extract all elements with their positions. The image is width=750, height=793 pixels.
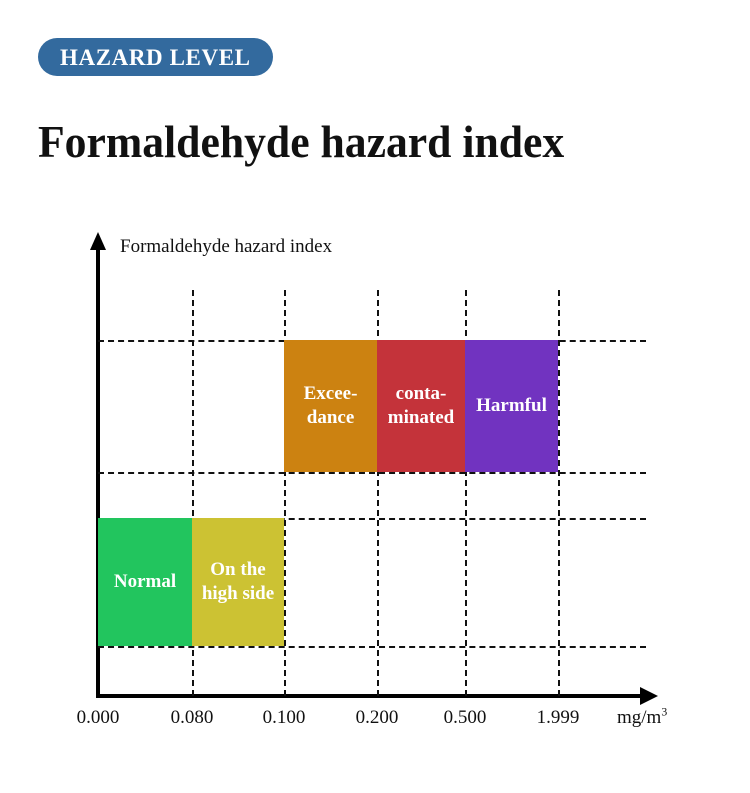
hazard-band-label: On the high side <box>198 558 278 606</box>
hazard-band-label: conta- minated <box>384 382 459 430</box>
x-axis-unit-base: mg/m <box>617 707 661 728</box>
gridline-vertical <box>558 290 560 696</box>
hazard-band-contaminated: conta- minated <box>377 340 465 472</box>
x-tick-label: 0.500 <box>444 707 487 729</box>
hazard-band-on-the-high-side: On the high side <box>192 518 284 646</box>
x-tick-label: 0.080 <box>171 707 214 729</box>
x-axis-line <box>96 694 644 698</box>
x-axis-unit-label: mg/m3 <box>617 707 667 729</box>
hazard-band-exceedance: Excee- dance <box>284 340 377 472</box>
x-tick-label: 0.100 <box>263 707 306 729</box>
gridline-horizontal <box>98 472 646 474</box>
hazard-band-harmful: Harmful <box>465 340 558 472</box>
x-tick-label: 1.999 <box>537 707 580 729</box>
x-axis-unit-exponent: 3 <box>661 706 667 719</box>
hazard-index-chart: Formaldehyde hazard index Normal On the … <box>0 0 750 793</box>
hazard-band-label: Excee- dance <box>300 382 362 430</box>
hazard-band-normal: Normal <box>98 518 192 646</box>
hazard-band-label: Harmful <box>472 394 551 418</box>
hazard-band-label: Normal <box>110 570 180 594</box>
y-axis-arrow-icon <box>90 232 106 250</box>
x-axis-arrow-icon <box>640 687 658 705</box>
x-tick-label: 0.000 <box>77 707 120 729</box>
gridline-horizontal <box>98 646 646 648</box>
y-axis-title: Formaldehyde hazard index <box>120 236 332 258</box>
x-tick-label: 0.200 <box>356 707 399 729</box>
